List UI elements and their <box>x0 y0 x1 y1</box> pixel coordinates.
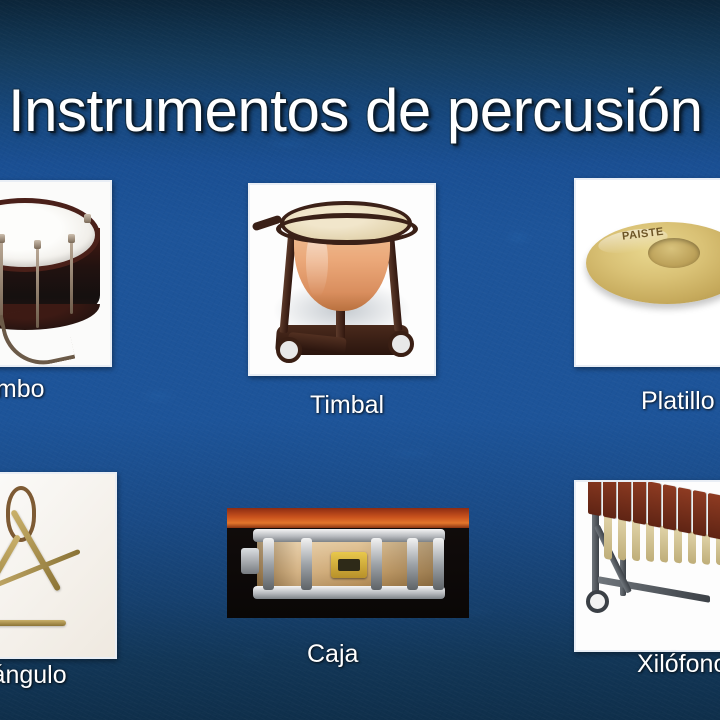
xylophone-bar <box>603 480 616 519</box>
xylophone-resonator <box>632 520 640 562</box>
xylophone-bar <box>693 490 706 537</box>
xylophone-resonator <box>618 517 626 561</box>
snare-drum-background-band <box>227 508 469 528</box>
timpani-rim <box>276 213 418 245</box>
triangle-bottom-arm <box>0 620 66 626</box>
snare-drum-lug <box>371 538 382 590</box>
instrument-caption-caja: Caja <box>307 640 358 669</box>
xylophone-bar <box>633 480 646 525</box>
slide-title: Instrumentos de percusión <box>8 76 720 145</box>
xylophone-resonator <box>604 515 612 561</box>
instrument-caption-platillo: Platillo <box>641 387 715 416</box>
snare-drum-illustration <box>227 508 469 618</box>
snare-drum-lug <box>433 538 444 590</box>
bass-drum-illustration <box>0 182 110 365</box>
snare-drum-strainer <box>241 548 259 574</box>
xylophone-bar <box>588 480 601 516</box>
triangle-instrument-icon <box>0 472 117 659</box>
xylophone-bar <box>618 480 631 522</box>
xylophone-bar <box>678 487 691 534</box>
triangle-illustration <box>0 474 115 657</box>
snare-drum-lug <box>263 538 274 590</box>
xylophone-icon <box>574 480 720 652</box>
bass-drum-lug <box>34 240 41 249</box>
bass-drum-lug <box>68 234 75 243</box>
snare-drum-badge <box>331 552 367 578</box>
triangle-left-arm <box>10 509 61 592</box>
bass-drum-lug <box>0 234 5 243</box>
timpani-icon <box>248 183 436 376</box>
xylophone-leg <box>592 504 599 598</box>
cymbal-bell <box>648 238 700 268</box>
xylophone-bar <box>708 493 720 540</box>
cymbal-icon: PAISTE <box>574 178 720 367</box>
instrument-caption-triangulo: iángulo <box>0 661 67 690</box>
snare-drum-lug <box>407 538 418 590</box>
bass-drum-tension-rod <box>0 242 3 326</box>
xylophone-resonator <box>646 523 654 563</box>
snare-drum-icon <box>227 508 469 618</box>
instrument-caption-xilofono: Xilófono <box>637 650 720 679</box>
bass-drum-tension-rod <box>70 242 73 314</box>
timpani-illustration <box>250 185 434 374</box>
bass-drum-lug <box>84 214 91 223</box>
snare-drum-lug <box>301 538 312 590</box>
xylophone-caster-wheel <box>586 590 609 613</box>
timpani-caster-wheel <box>276 337 302 363</box>
timpani-caster-wheel <box>388 331 414 357</box>
xylophone-bar <box>648 481 661 528</box>
instrument-caption-timbal: Timbal <box>310 391 384 420</box>
presentation-slide: Instrumentos de percusión ombo <box>0 0 720 720</box>
instrument-caption-bombo: ombo <box>0 375 45 404</box>
cymbal-illustration: PAISTE <box>576 180 720 365</box>
xylophone-illustration <box>576 482 720 650</box>
xylophone-bar <box>663 484 676 531</box>
bass-drum-icon <box>0 180 112 367</box>
